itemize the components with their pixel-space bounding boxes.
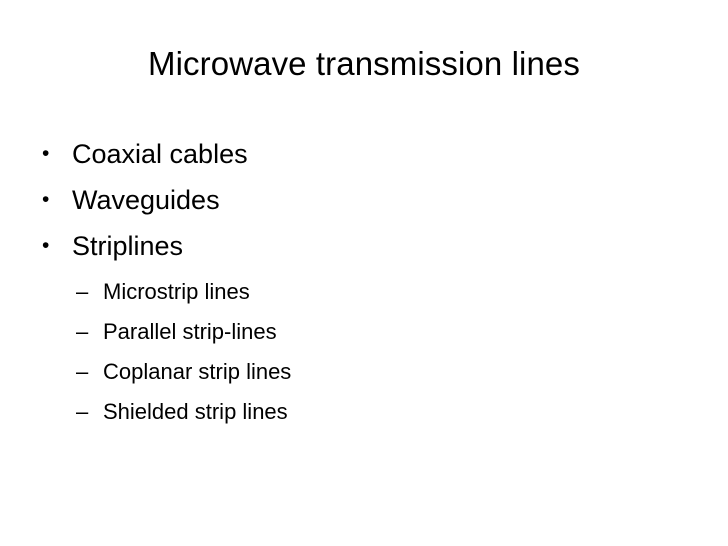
list-item: • Waveguides: [0, 177, 728, 223]
sub-list-container: – Microstrip lines – Parallel strip-line…: [0, 272, 728, 432]
bullet-dash-icon: –: [76, 392, 98, 432]
list-item: • Striplines: [0, 223, 728, 269]
sub-list-item-label: Parallel strip-lines: [103, 319, 277, 344]
list-item-label: Waveguides: [72, 185, 220, 215]
sub-list-item: – Coplanar strip lines: [0, 352, 728, 392]
top-level-bullet-list: • Coaxial cables • Waveguides • Striplin…: [0, 131, 728, 269]
sub-list-item-label: Coplanar strip lines: [103, 359, 291, 384]
sub-list-item: – Shielded strip lines: [0, 392, 728, 432]
list-item-label: Coaxial cables: [72, 139, 248, 169]
bullet-dash-icon: –: [76, 312, 98, 352]
sub-list-item: – Parallel strip-lines: [0, 312, 728, 352]
second-level-bullet-list: – Microstrip lines – Parallel strip-line…: [0, 272, 728, 432]
bullet-dot-icon: •: [42, 131, 64, 177]
slide: Microwave transmission lines • Coaxial c…: [0, 0, 728, 546]
list-item-label: Striplines: [72, 231, 183, 261]
bullet-dash-icon: –: [76, 352, 98, 392]
bullet-dot-icon: •: [42, 177, 64, 223]
bullet-dash-icon: –: [76, 272, 98, 312]
page-title: Microwave transmission lines: [0, 44, 728, 84]
list-item: • Coaxial cables: [0, 131, 728, 177]
slide-content-body: • Coaxial cables • Waveguides • Striplin…: [0, 131, 728, 432]
sub-list-item-label: Microstrip lines: [103, 279, 250, 304]
bullet-dot-icon: •: [42, 223, 64, 269]
sub-list-item: – Microstrip lines: [0, 272, 728, 312]
sub-list-item-label: Shielded strip lines: [103, 399, 288, 424]
